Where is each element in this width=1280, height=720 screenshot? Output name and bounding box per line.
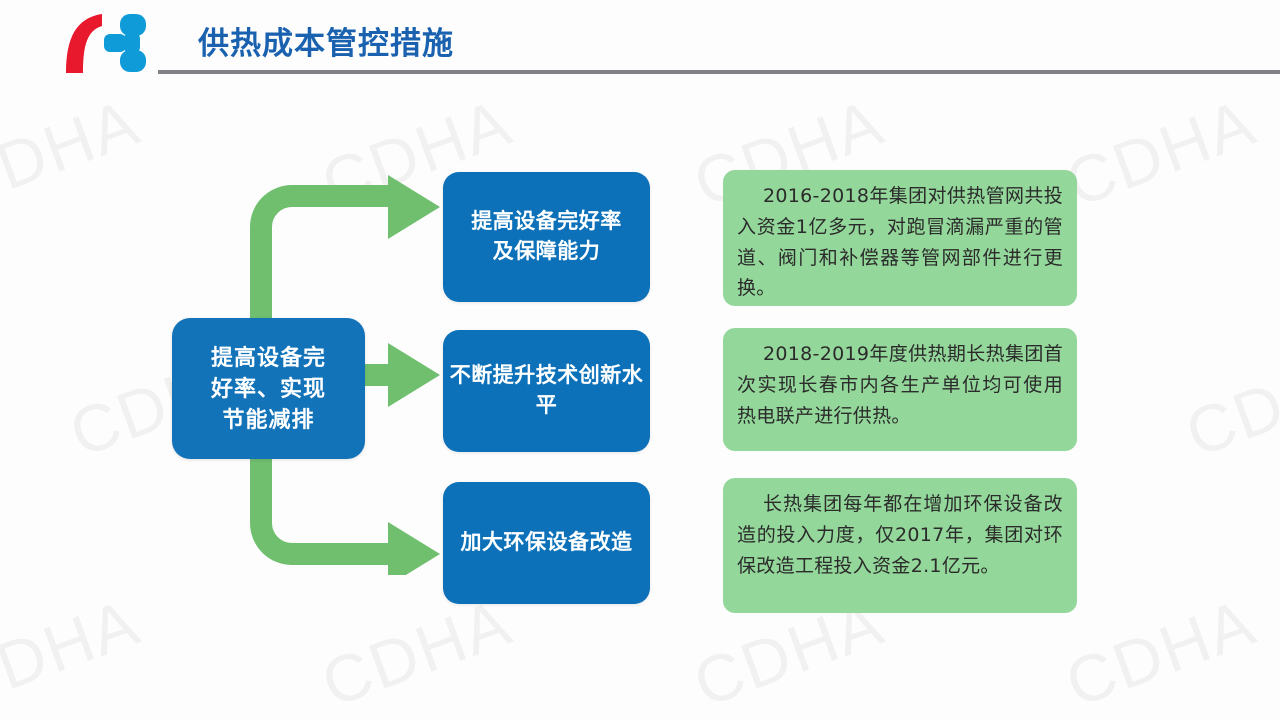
title-divider-rule [158,70,1280,74]
stage-1-line-2: 及保障能力 [493,240,601,263]
stage-1-line-1: 提高设备完好率 [471,210,622,233]
detail-box-2: 2018-2019年度供热期长热集团首次实现长春市内各生产单位均可使用热电联产进… [723,328,1077,451]
stage-label-2: 不断提升技术创新水平 [443,361,650,422]
stage-label-3: 加大环保设备改造 [461,528,633,558]
stage-box-3[interactable]: 加大环保设备改造 [443,482,650,604]
root-node-box[interactable]: 提高设备完 好率、实现 节能减排 [172,318,365,459]
detail-box-1: 2016-2018年集团对供热管网共投入资金1亿多元，对跑冒滴漏严重的管道、阀门… [723,170,1077,306]
page-title: 供热成本管控措施 [198,18,454,63]
root-line-2: 好率、实现 [211,376,326,401]
slide-canvas: CDHACDHACDHACDHACDHACDHACDHACDHACDHACDHA… [0,0,1280,720]
cdha-company-logo [58,12,163,74]
root-node-label: 提高设备完 好率、实现 节能减排 [211,342,326,436]
stage-label-1: 提高设备完好率 及保障能力 [471,207,622,268]
root-line-1: 提高设备完 [211,345,326,370]
root-line-3: 节能减排 [222,407,314,432]
slide-header: 供热成本管控措施 [0,0,1280,86]
detail-box-3: 长热集团每年都在增加环保设备改造的投入力度，仅2017年，集团对环保改造工程投入… [723,478,1077,613]
process-diagram: 提高设备完 好率、实现 节能减排 提高设备完好率 及保障能力 2016-2018… [0,0,1280,720]
stage-box-2[interactable]: 不断提升技术创新水平 [443,330,650,452]
stage-box-1[interactable]: 提高设备完好率 及保障能力 [443,172,650,302]
